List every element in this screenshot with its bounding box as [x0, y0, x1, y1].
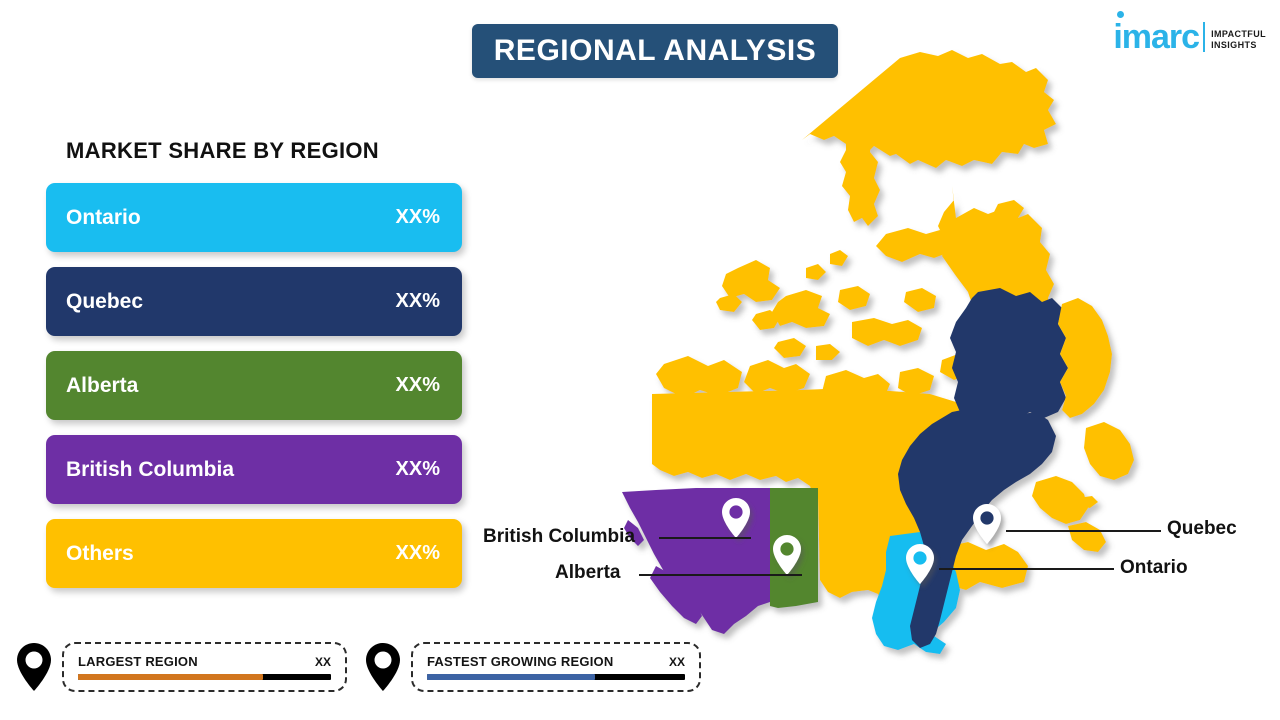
- legend-label: LARGEST REGION: [78, 654, 198, 669]
- nova-scotia: [1068, 522, 1106, 552]
- leader-line-quebec: [1006, 530, 1161, 532]
- bar-value: XX%: [396, 374, 440, 397]
- logo-tagline-line1: IMPACTFUL: [1211, 29, 1266, 40]
- leader-line-alberta: [639, 574, 802, 576]
- map-pin-quebec: [973, 504, 1001, 544]
- legend-progress-fill: [78, 674, 263, 680]
- largest-region-box: LARGEST REGION XX: [62, 642, 347, 692]
- market-share-bar[interactable]: British Columbia XX%: [46, 435, 462, 504]
- legend-progress-track: [427, 674, 685, 680]
- pei: [1078, 496, 1098, 508]
- map-callout-british-columbia: British Columbia: [483, 526, 635, 548]
- market-share-bar[interactable]: Alberta XX%: [46, 351, 462, 420]
- bar-label: British Columbia: [66, 458, 234, 482]
- market-share-bar[interactable]: Ontario XX%: [46, 183, 462, 252]
- region-quebec: [950, 288, 1068, 420]
- bar-label: Others: [66, 542, 134, 566]
- market-share-heading: MARKET SHARE BY REGION: [66, 138, 379, 164]
- market-share-bar[interactable]: Others XX%: [46, 519, 462, 588]
- map-landmass-group: [622, 50, 1134, 654]
- legend-progress-track: [78, 674, 331, 680]
- bar-value: XX%: [396, 290, 440, 313]
- leader-line-british-columbia: [659, 537, 751, 539]
- bar-label: Alberta: [66, 374, 138, 398]
- map-pin-icon: [14, 641, 54, 693]
- legend-progress-fill: [427, 674, 595, 680]
- bar-label: Ontario: [66, 206, 141, 230]
- bar-value: XX%: [396, 458, 440, 481]
- newfoundland-labrador: [1058, 298, 1112, 418]
- legend-value: XX: [315, 655, 331, 669]
- map-callout-quebec: Quebec: [1167, 518, 1237, 540]
- bar-label: Quebec: [66, 290, 143, 314]
- map-pin-icon: [363, 641, 403, 693]
- legend-label: FASTEST GROWING REGION: [427, 654, 613, 669]
- bar-value: XX%: [396, 206, 440, 229]
- bar-value: XX%: [396, 542, 440, 565]
- newfoundland-island: [1084, 422, 1134, 480]
- market-share-bar[interactable]: Quebec XX%: [46, 267, 462, 336]
- largest-region-legend: LARGEST REGION XX: [14, 641, 347, 693]
- leader-line-ontario: [939, 568, 1114, 570]
- map-callout-alberta: Alberta: [555, 562, 620, 584]
- logo-dot-icon: [1117, 11, 1124, 18]
- map-callout-ontario: Ontario: [1120, 557, 1188, 579]
- market-share-bar-list: Ontario XX% Quebec XX% Alberta XX% Briti…: [46, 183, 462, 603]
